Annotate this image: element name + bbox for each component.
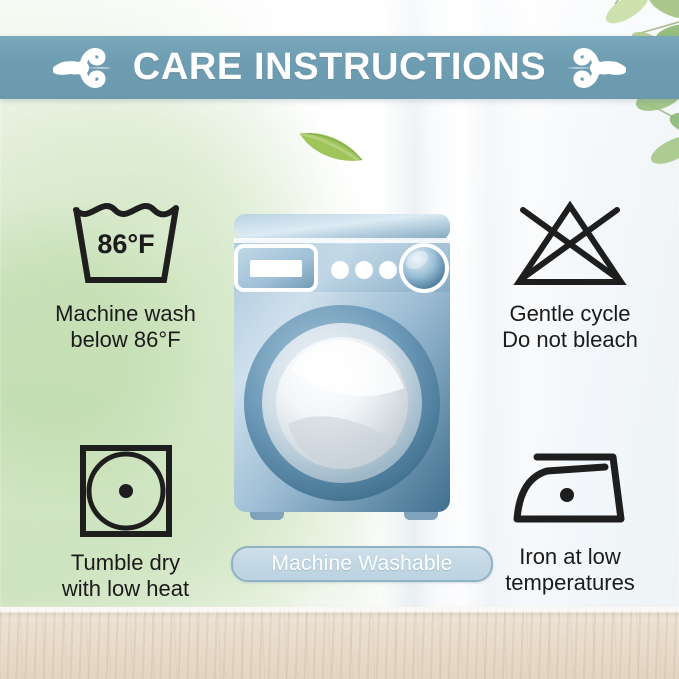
machine-top-lid [234, 214, 450, 240]
iron-icon [509, 443, 631, 538]
wooden-table-surface [0, 607, 679, 679]
care-symbol-iron: Iron at low temperatures [470, 443, 670, 596]
care-symbol-caption: Tumble dry with low heat [62, 550, 189, 602]
triangle-crossed-out-icon [509, 198, 631, 295]
dry-heat-dot [119, 484, 133, 498]
washing-machine-icon [228, 210, 456, 530]
care-symbol-no-bleach: Gentle cycle Do not bleach [470, 198, 670, 353]
care-symbol-caption: Machine wash below 86°F [55, 301, 196, 353]
header-banner: CARE INSTRUCTIONS [0, 36, 679, 99]
care-instructions-graphic: CARE INSTRUCTIONS 86°F Machi [0, 0, 679, 679]
care-symbol-caption: Iron at low temperatures [505, 544, 635, 596]
fleur-de-lis-icon [53, 46, 115, 90]
fleur-de-lis-icon [564, 46, 626, 90]
care-symbol-tumble-dry: Tumble dry with low heat [18, 443, 233, 602]
tumble-dry-icon [78, 443, 174, 544]
iron-heat-dot [560, 488, 574, 502]
badge-label: Machine Washable [271, 552, 452, 576]
wash-temperature-value: 86°F [97, 229, 154, 259]
machine-washable-badge: Machine Washable [231, 546, 493, 582]
page-title: CARE INSTRUCTIONS [133, 46, 546, 89]
indicator-light [331, 261, 349, 279]
indicator-light [355, 261, 373, 279]
care-symbol-caption: Gentle cycle Do not bleach [502, 301, 638, 353]
leaf-icon [296, 120, 366, 166]
wash-tub-icon: 86°F [68, 198, 184, 295]
care-symbol-machine-wash: 86°F Machine wash below 86°F [18, 198, 233, 353]
indicator-light [379, 261, 397, 279]
